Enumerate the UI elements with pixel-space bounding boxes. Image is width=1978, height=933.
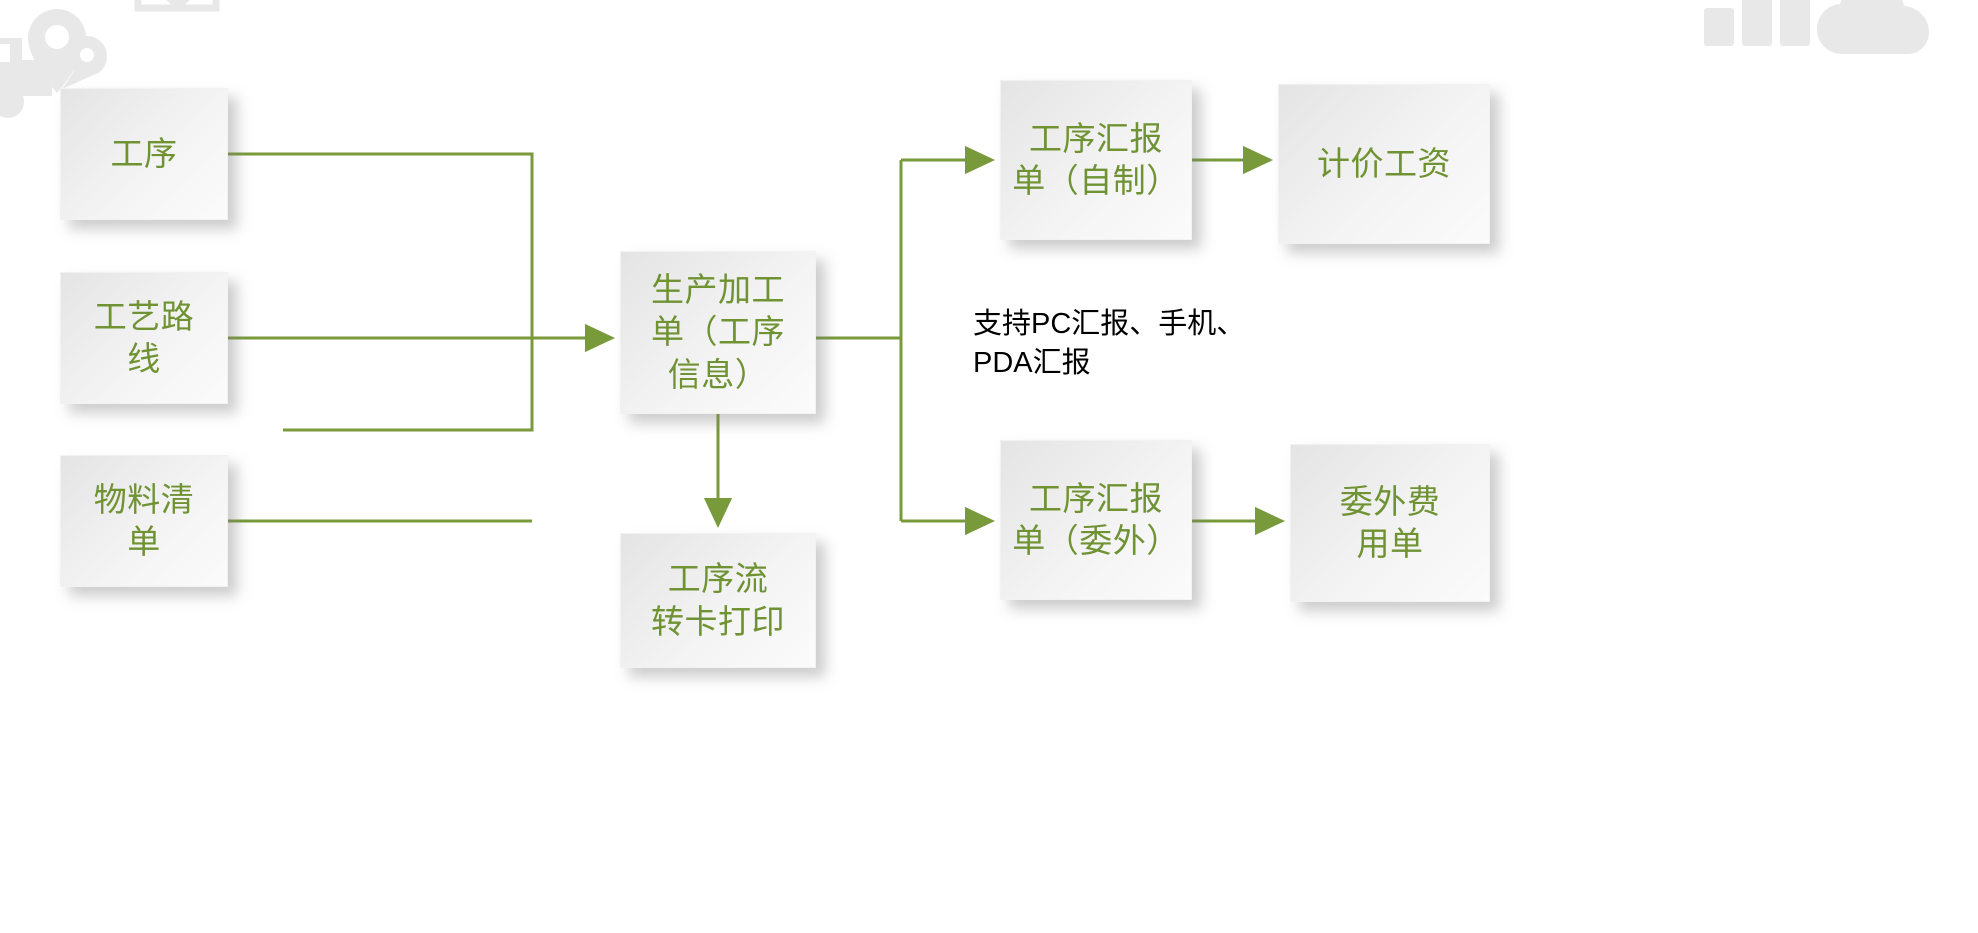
node-process-label: 工序	[105, 133, 184, 175]
node-process[interactable]: 工序	[60, 88, 228, 220]
watermark-group-top-right	[1692, 0, 1972, 128]
node-outsourcing-fee-bill-label: 委外费 用单	[1334, 481, 1447, 565]
diagram-canvas: 工序 工艺路 线 物料清 单 生产加工 单（工序 信息） 工序流 转卡打印 工序…	[0, 0, 1978, 933]
node-piece-rate-wage-label: 计价工资	[1311, 143, 1457, 185]
bar-chart-icon	[1704, 0, 1810, 46]
node-process-flow-card-print-label: 工序流 转卡打印	[645, 558, 791, 642]
node-process-flow-card-print[interactable]: 工序流 转卡打印	[620, 533, 816, 668]
node-process-route-label: 工艺路 线	[88, 296, 201, 380]
node-production-work-order-label: 生产加工 单（工序 信息）	[645, 269, 791, 396]
map-pin-icon	[28, 9, 86, 93]
connector-layer	[0, 0, 1978, 933]
node-process-route[interactable]: 工艺路 线	[60, 272, 228, 404]
node-process-report-self-made[interactable]: 工序汇报 单（自制）	[1000, 80, 1192, 240]
node-process-report-outsourced-label: 工序汇报 单（委外）	[1006, 478, 1186, 562]
node-bill-of-materials[interactable]: 物料清 单	[60, 455, 228, 587]
cloud-icon	[1817, 0, 1929, 54]
node-process-report-self-made-label: 工序汇报 单（自制）	[1006, 118, 1186, 202]
node-outsourcing-fee-bill[interactable]: 委外费 用单	[1290, 444, 1490, 602]
truck-icon	[0, 38, 52, 118]
node-piece-rate-wage[interactable]: 计价工资	[1278, 84, 1490, 244]
location-tag-icon	[62, 36, 107, 89]
node-production-work-order[interactable]: 生产加工 单（工序 信息）	[620, 251, 816, 414]
node-bill-of-materials-label: 物料清 单	[88, 479, 201, 563]
download-icon	[138, 0, 216, 12]
note-multichannel-reporting: 支持PC汇报、手机、 PDA汇报	[973, 305, 1273, 383]
connector-process-to-bus	[228, 154, 532, 430]
node-process-report-outsourced[interactable]: 工序汇报 单（委外）	[1000, 440, 1192, 600]
